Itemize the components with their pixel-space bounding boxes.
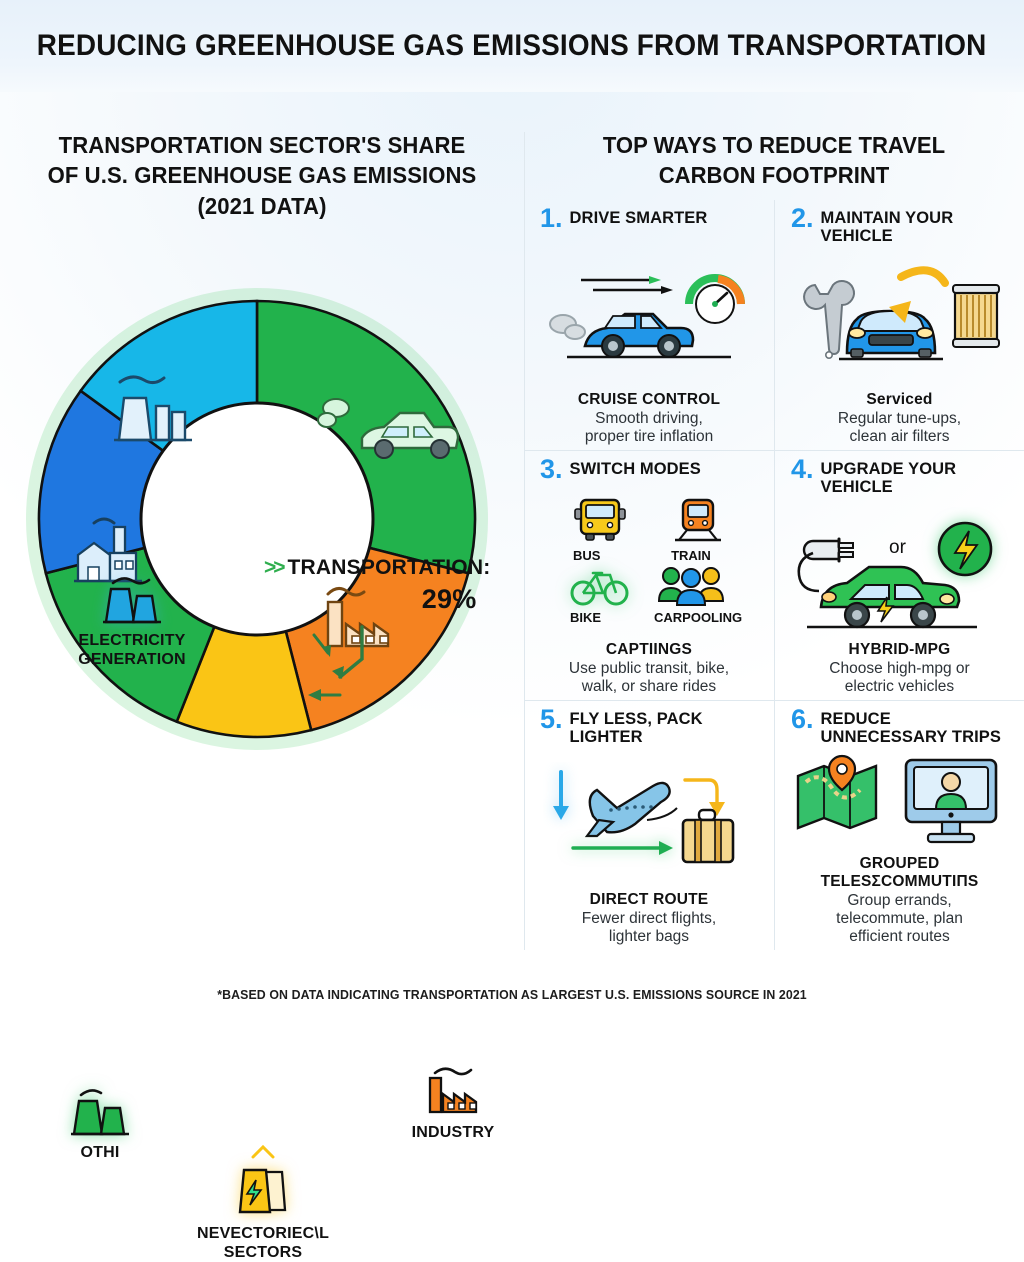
factory-icon [421,1066,485,1118]
tip-2-desc-line2: clean air filters [850,428,950,445]
tip-6-desc-line2: telecommute, plan [836,910,963,927]
tip-6-head: 6. REDUCE UNNECESSARY TRIPS [783,707,1016,747]
tip-2-number: 2. [791,206,814,232]
tip-card-5[interactable]: 5. FLY LESS, PACK LIGHTER [524,700,774,950]
donut-chart-area: ELECTRICITY GENERATION >>TRANSPORTATION:… [0,276,524,796]
tip-4-desc-line1: Choose high-mpg or [829,660,969,677]
airplane-luggage-icon [543,762,755,874]
label-electricity-generation: ELECTRICITY GENERATION [52,576,212,670]
tip-1-desc-line1: Smooth driving, [595,410,703,427]
mode-carpooling: CARPOOLING [654,565,742,625]
map-pin-icon [798,756,876,828]
label-industry: INDUSTRY [388,1066,518,1142]
carpooling-people-icon [654,565,728,607]
tip-5-illustration [536,747,762,889]
mode-bike-label: BIKE [570,610,630,625]
tip-5-description: Fewer direct flights, lighter bags [582,910,716,946]
label-electric-sectors: NEVECTORIEC\L SECTORS [178,1144,348,1262]
train-icon [671,497,725,545]
blue-car-front-icon [839,311,943,359]
label-electric-sectors-line2: SECTORS [224,1244,302,1261]
tip-card-1[interactable]: 1. DRIVE SMARTER [524,200,774,450]
tip-3-description: Use public transit, bike, walk, or share… [569,660,729,696]
video-call-monitor-icon [906,760,996,842]
tip-3-head: 3. SWITCH MODES [532,457,766,483]
tip-6-number: 6. [791,707,814,733]
tip-4-description: Choose high-mpg or electric vehicles [829,660,969,696]
label-other: OTHI [44,1088,156,1162]
chart-heading-line2: OF U.S. GREENHOUSE GAS EMISSIONS [48,162,477,188]
tip-1-desc-line2: proper tire inflation [585,428,713,445]
wrench-car-airfilter-icon [793,265,1007,369]
green-arrow-icon [573,841,673,855]
tip-5-number: 5. [540,707,563,733]
label-electric-sectors-line1: NEVECTORIEC\L [197,1225,329,1242]
map-telecommute-icon [792,748,1008,852]
tip-card-3[interactable]: 3. SWITCH MODES [524,450,774,700]
tips-heading-line2: CARBON FOOTPRINT [659,162,890,188]
tip-3-illustration: BUS TRAIN [536,483,762,639]
tip-2-title: MAINTAIN YOUR VEHICLE [821,206,1016,246]
label-transportation: >>TRANSPORTATION: 29% [264,555,490,617]
tip-4-title: UPGRADE YOUR VEHICLE [821,457,1016,497]
tip-3-desc-line2: walk, or share rides [582,678,716,695]
transit-modes-grid: BUS TRAIN [556,497,742,625]
tip-6-title: REDUCE UNNECESSARY TRIPS [821,707,1016,747]
tips-panel: TOP WAYS TO REDUCE TRAVEL CARBON FOOTPRI… [524,96,1024,956]
tip-5-title: FLY LESS, PACK LIGHTER [570,707,766,747]
tip-4-head: 4. UPGRADE YOUR VEHICLE [783,457,1016,497]
tip-4-keyword: HYBRID-MPG [849,641,951,659]
tip-5-keyword: DIRECT ROUTE [590,891,709,909]
label-other-text: OTHI [80,1144,119,1161]
tip-3-title: SWITCH MODES [570,457,701,478]
electric-car-plug-icon: or [791,507,1009,629]
transportation-percentage: 29% [264,583,490,617]
label-electricity-generation-text: ELECTRICITY GENERATION [78,632,185,668]
tip-6-desc-line1: Group errands, [847,892,951,909]
tips-panel-heading: TOP WAYS TO REDUCE TRAVEL CARBON FOOTPRI… [534,130,1014,191]
blue-car-speedometer-icon [545,258,753,362]
tip-5-head: 5. FLY LESS, PACK LIGHTER [532,707,766,747]
tip-2-keyword: Serviced [866,391,932,409]
tip-5-desc-line1: Fewer direct flights, [582,910,716,927]
tip-6-keyword: GROUPED TELESΣCOMMUTIΠS [821,855,979,891]
chevron-right-icon: >> [264,556,283,579]
tip-1-keyword: CRUISE CONTROL [578,391,720,409]
airplane-icon [587,783,677,836]
green-plant-icon [69,1088,131,1138]
page-title: REDUCING GREENHOUSE GAS EMISSIONS FROM T… [37,29,987,63]
infographic-canvas: REDUCING GREENHOUSE GAS EMISSIONS FROM T… [0,0,1024,1024]
tip-6-keyword-line2: TELESΣCOMMUTIΠS [821,873,979,890]
tip-6-illustration [787,747,1012,853]
tip-6-description: Group errands, telecommute, plan efficie… [836,892,963,946]
tip-4-number: 4. [791,457,814,483]
power-plant-icon [101,576,163,626]
green-ev-icon [807,567,977,627]
down-arrow-icon [553,772,569,820]
air-filter-icon [953,285,999,347]
tip-3-keyword: CAPTIΙNGS [606,641,692,659]
mode-train: TRAIN [671,497,725,563]
mode-bus-label: BUS [573,548,627,563]
or-label: or [889,537,907,558]
lightning-badge-icon [939,523,991,575]
tip-card-2[interactable]: 2. MAINTAIN YOUR VEHICLE [774,200,1024,450]
up-arrow-icon [250,1144,276,1160]
tip-5-desc-line2: lighter bags [609,928,689,945]
chart-heading-line1: TRANSPORTATION SECTOR'S SHARE [59,132,466,158]
chart-panel: TRANSPORTATION SECTOR'S SHARE OF U.S. GR… [0,96,524,956]
tip-6-desc-line3: efficient routes [849,928,950,945]
mode-bike: BIKE [570,565,630,625]
tip-2-head: 2. MAINTAIN YOUR VEHICLE [783,206,1016,246]
tip-4-illustration: or [787,497,1012,639]
tips-grid: 1. DRIVE SMARTER [524,200,1024,950]
tip-6-keyword-line1: GROUPED [860,855,940,872]
mode-carpooling-label: CARPOOLING [654,610,742,625]
tip-2-illustration [787,246,1012,389]
page-header: REDUCING GREENHOUSE GAS EMISSIONS FROM T… [0,0,1024,92]
bicycle-icon [570,565,630,607]
tip-2-desc-line1: Regular tune-ups, [838,410,961,427]
chart-panel-heading: TRANSPORTATION SECTOR'S SHARE OF U.S. GR… [10,130,513,221]
tip-3-number: 3. [540,457,563,483]
tip-4-desc-line2: electric vehicles [845,678,954,695]
tip-card-6[interactable]: 6. REDUCE UNNECESSARY TRIPS [774,700,1024,950]
tips-heading-line1: TOP WAYS TO REDUCE TRAVEL [603,132,945,158]
label-industry-text: INDUSTRY [412,1124,495,1141]
bus-icon [573,497,627,545]
emissions-donut-chart [22,284,492,754]
tip-card-4[interactable]: 4. UPGRADE YOUR VEHICLE or [774,450,1024,700]
label-transportation-text: TRANSPORTATION: [288,556,491,579]
mode-train-label: TRAIN [671,548,725,563]
suitcase-icon [683,810,733,862]
transport-arrows [270,621,388,707]
tip-1-head: 1. DRIVE SMARTER [532,206,766,232]
tip-2-description: Regular tune-ups, clean air filters [838,410,961,446]
electric-plant-icon [232,1162,294,1218]
tip-1-illustration [536,232,762,389]
chart-heading-line3: (2021 DATA) [197,193,326,219]
tip-1-title: DRIVE SMARTER [570,206,708,227]
mode-bus: BUS [573,497,627,563]
tip-1-number: 1. [540,206,563,232]
tip-3-desc-line1: Use public transit, bike, [569,660,729,677]
footer-note: *BASED ON DATA INDICATING TRANSPORTATION… [26,987,999,1002]
tip-1-description: Smooth driving, proper tire inflation [585,410,713,446]
